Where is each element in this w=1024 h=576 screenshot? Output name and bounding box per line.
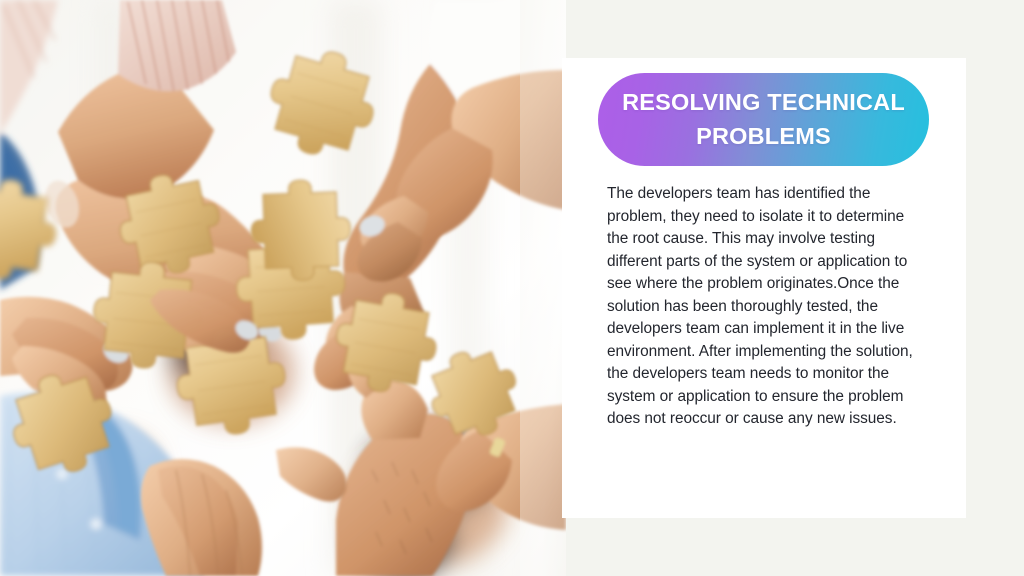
slide-root: RESOLVING TECHNICAL PROBLEMS The develop… [0,0,1024,576]
page-title: RESOLVING TECHNICAL PROBLEMS [622,86,905,153]
title-pill: RESOLVING TECHNICAL PROBLEMS [598,73,929,166]
body-paragraph: The developers team has identified the p… [607,183,925,431]
teamwork-puzzle-photo [0,0,566,576]
